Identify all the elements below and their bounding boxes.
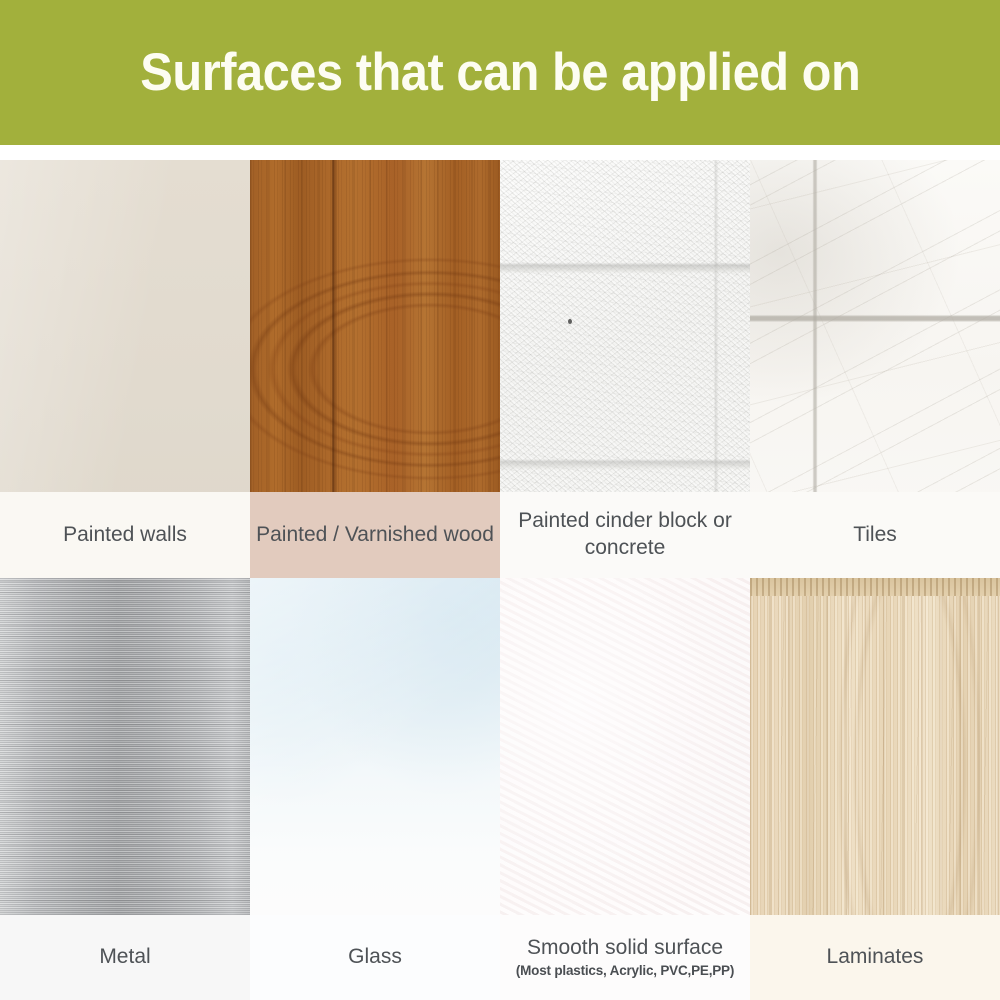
surface-grid: Painted walls Painted / Varnished wood P… xyxy=(0,160,1000,1000)
surface-sublabel-smooth-solid-surface: (Most plastics, Acrylic, PVC,PE,PP) xyxy=(516,963,734,979)
surface-label-tiles: Tiles xyxy=(853,522,897,549)
surface-label-metal: Metal xyxy=(99,944,150,971)
surfaces-infographic: Surfaces that can be applied on Painted … xyxy=(0,0,1000,1000)
surface-card-glass[interactable]: Glass xyxy=(250,578,500,1000)
surface-caption-painted-varnished-wood: Painted / Varnished wood xyxy=(250,492,500,578)
header-divider xyxy=(0,145,1000,160)
surface-card-painted-varnished-wood[interactable]: Painted / Varnished wood xyxy=(250,160,500,578)
surface-caption-laminates: Laminates xyxy=(750,915,1000,1000)
surface-card-tiles[interactable]: Tiles xyxy=(750,160,1000,578)
surface-label-glass: Glass xyxy=(348,944,402,971)
surface-card-laminates[interactable]: Laminates xyxy=(750,578,1000,1000)
surface-caption-tiles: Tiles xyxy=(750,492,1000,578)
surface-card-painted-cinder-block[interactable]: Painted cinder block or concrete xyxy=(500,160,750,578)
header-banner: Surfaces that can be applied on xyxy=(0,0,1000,145)
surface-card-painted-walls[interactable]: Painted walls xyxy=(0,160,250,578)
surface-caption-painted-cinder-block: Painted cinder block or concrete xyxy=(500,492,750,578)
surface-card-metal[interactable]: Metal xyxy=(0,578,250,1000)
surface-caption-metal: Metal xyxy=(0,915,250,1000)
surface-caption-smooth-solid-surface: Smooth solid surface (Most plastics, Acr… xyxy=(500,915,750,1000)
surface-label-laminates: Laminates xyxy=(827,944,924,971)
surface-caption-glass: Glass xyxy=(250,915,500,1000)
surface-card-smooth-solid-surface[interactable]: Smooth solid surface (Most plastics, Acr… xyxy=(500,578,750,1000)
surface-label-painted-walls: Painted walls xyxy=(63,522,187,549)
surface-caption-painted-walls: Painted walls xyxy=(0,492,250,578)
surface-label-painted-cinder-block: Painted cinder block or concrete xyxy=(506,508,744,562)
surface-label-painted-varnished-wood: Painted / Varnished wood xyxy=(256,522,494,549)
surface-label-smooth-solid-surface: Smooth solid surface xyxy=(527,935,723,962)
page-title: Surfaces that can be applied on xyxy=(140,46,860,99)
